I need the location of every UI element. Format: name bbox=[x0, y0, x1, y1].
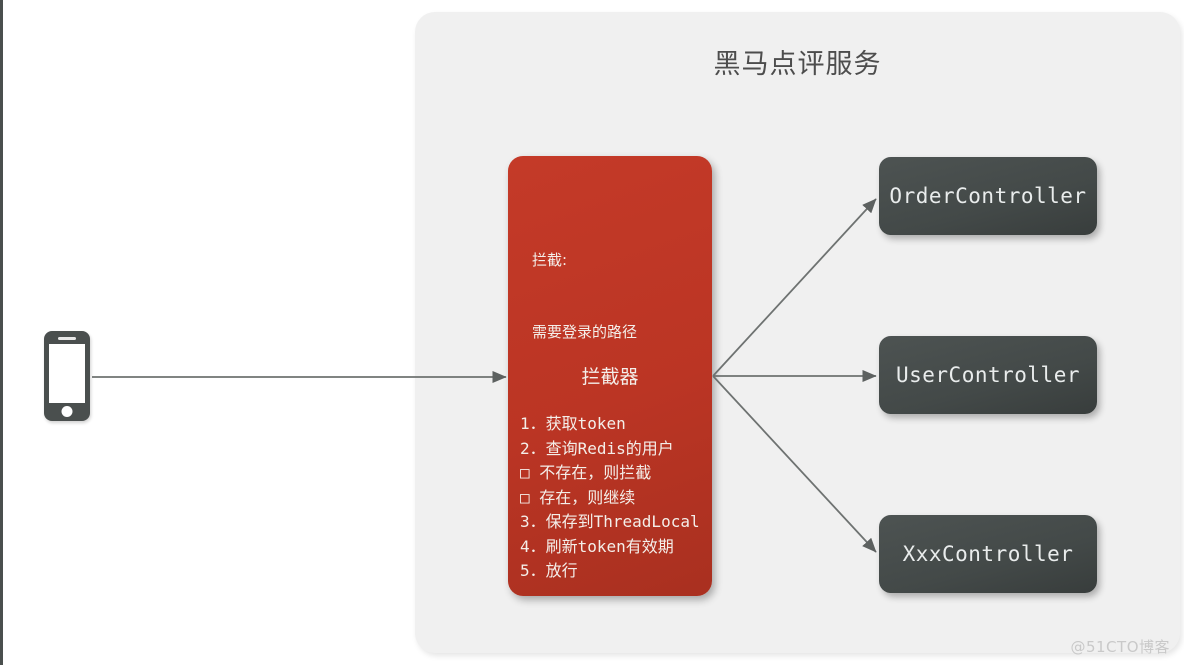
interceptor-header-line2: 需要登录的路径 bbox=[532, 320, 637, 344]
list-item: 2．查询Redis的用户 bbox=[520, 437, 712, 462]
phone-speaker-icon bbox=[58, 337, 76, 340]
list-item: □ 存在，则继续 bbox=[520, 486, 712, 511]
interceptor-box: 拦截: 需要登录的路径 拦截器 1．获取token 2．查询Redis的用户 □… bbox=[508, 156, 712, 596]
panel-title: 黑马点评服务 bbox=[415, 42, 1180, 81]
phone-screen bbox=[49, 344, 85, 403]
list-item: □ 不存在，则拦截 bbox=[520, 461, 712, 486]
diagram-canvas: 黑马点评服务 拦截: 需要登录的路径 拦截器 1．获取token 2．查询Red… bbox=[0, 0, 1184, 665]
smartphone-icon bbox=[44, 331, 90, 421]
list-item: 1．获取token bbox=[520, 412, 712, 437]
list-item: 3．保存到ThreadLocal bbox=[520, 510, 712, 535]
xxx-controller-label: XxxController bbox=[903, 542, 1074, 566]
user-controller-box: UserController bbox=[879, 336, 1097, 414]
order-controller-box: OrderController bbox=[879, 157, 1097, 235]
interceptor-title: 拦截器 bbox=[508, 362, 712, 389]
interceptor-step-list: 1．获取token 2．查询Redis的用户 □ 不存在，则拦截 □ 存在，则继… bbox=[520, 412, 712, 584]
xxx-controller-box: XxxController bbox=[879, 515, 1097, 593]
order-controller-label: OrderController bbox=[889, 184, 1086, 208]
list-item: 5．放行 bbox=[520, 559, 712, 584]
user-controller-label: UserController bbox=[896, 363, 1080, 387]
list-item: 4．刷新token有效期 bbox=[520, 535, 712, 560]
phone-home-button-icon bbox=[62, 406, 73, 417]
watermark: @51CTO博客 bbox=[1070, 636, 1170, 657]
interceptor-header-line1: 拦截: bbox=[532, 248, 637, 272]
left-border-rule bbox=[0, 0, 3, 665]
